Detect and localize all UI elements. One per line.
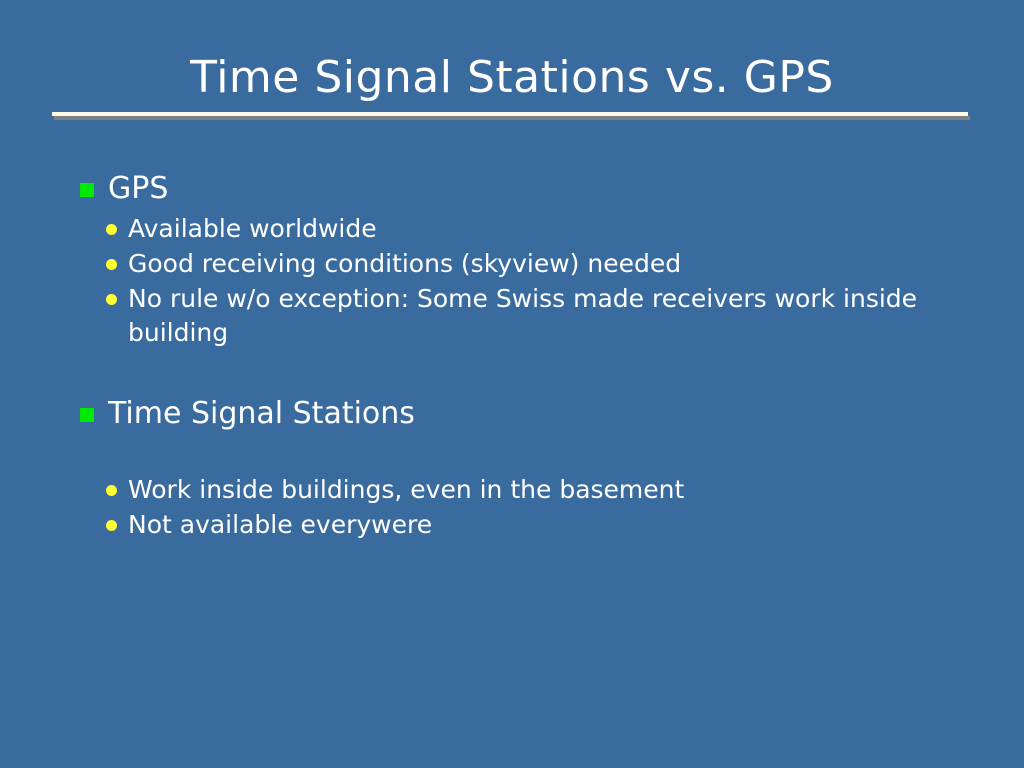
sub-list-time-signal-stations: Work inside buildings, even in the basem… bbox=[78, 473, 958, 542]
list-item-label: No rule w/o exception: Some Swiss made r… bbox=[128, 282, 958, 350]
list-item-label: Good receiving conditions (skyview) need… bbox=[128, 247, 958, 281]
bullet-level1-label: Time Signal Stations bbox=[108, 396, 415, 431]
sub-list-gps: Available worldwide Good receiving condi… bbox=[78, 212, 958, 350]
round-bullet-icon bbox=[106, 224, 117, 235]
list-item-label: Available worldwide bbox=[128, 212, 958, 246]
title-block: Time Signal Stations vs. GPS bbox=[0, 52, 1024, 104]
bullet-level1-gps: GPS bbox=[78, 170, 958, 208]
bullet-group-time-signal-stations: Time Signal Stations Work inside buildin… bbox=[78, 395, 958, 542]
title-divider-shadow bbox=[54, 116, 970, 120]
square-bullet-icon bbox=[80, 408, 94, 422]
list-item: No rule w/o exception: Some Swiss made r… bbox=[78, 282, 958, 350]
page-title: Time Signal Stations vs. GPS bbox=[0, 52, 1024, 104]
bullet-level1-label: GPS bbox=[108, 171, 168, 206]
round-bullet-icon bbox=[106, 485, 117, 496]
list-item: Available worldwide bbox=[78, 212, 958, 246]
square-bullet-icon bbox=[80, 183, 94, 197]
blank-line-spacer bbox=[78, 437, 958, 473]
list-item: Good receiving conditions (skyview) need… bbox=[78, 247, 958, 281]
round-bullet-icon bbox=[106, 259, 117, 270]
round-bullet-icon bbox=[106, 520, 117, 531]
bullet-level1-time-signal-stations: Time Signal Stations bbox=[78, 395, 958, 433]
round-bullet-icon bbox=[106, 294, 117, 305]
list-item-label: Work inside buildings, even in the basem… bbox=[128, 473, 958, 507]
list-item-label: Not available everywere bbox=[128, 508, 958, 542]
slide: Time Signal Stations vs. GPS GPS Availab… bbox=[0, 0, 1024, 768]
group-spacer bbox=[78, 351, 958, 395]
list-item: Not available everywere bbox=[78, 508, 958, 542]
slide-body: GPS Available worldwide Good receiving c… bbox=[78, 170, 958, 543]
list-item: Work inside buildings, even in the basem… bbox=[78, 473, 958, 507]
bullet-group-gps: GPS Available worldwide Good receiving c… bbox=[78, 170, 958, 350]
